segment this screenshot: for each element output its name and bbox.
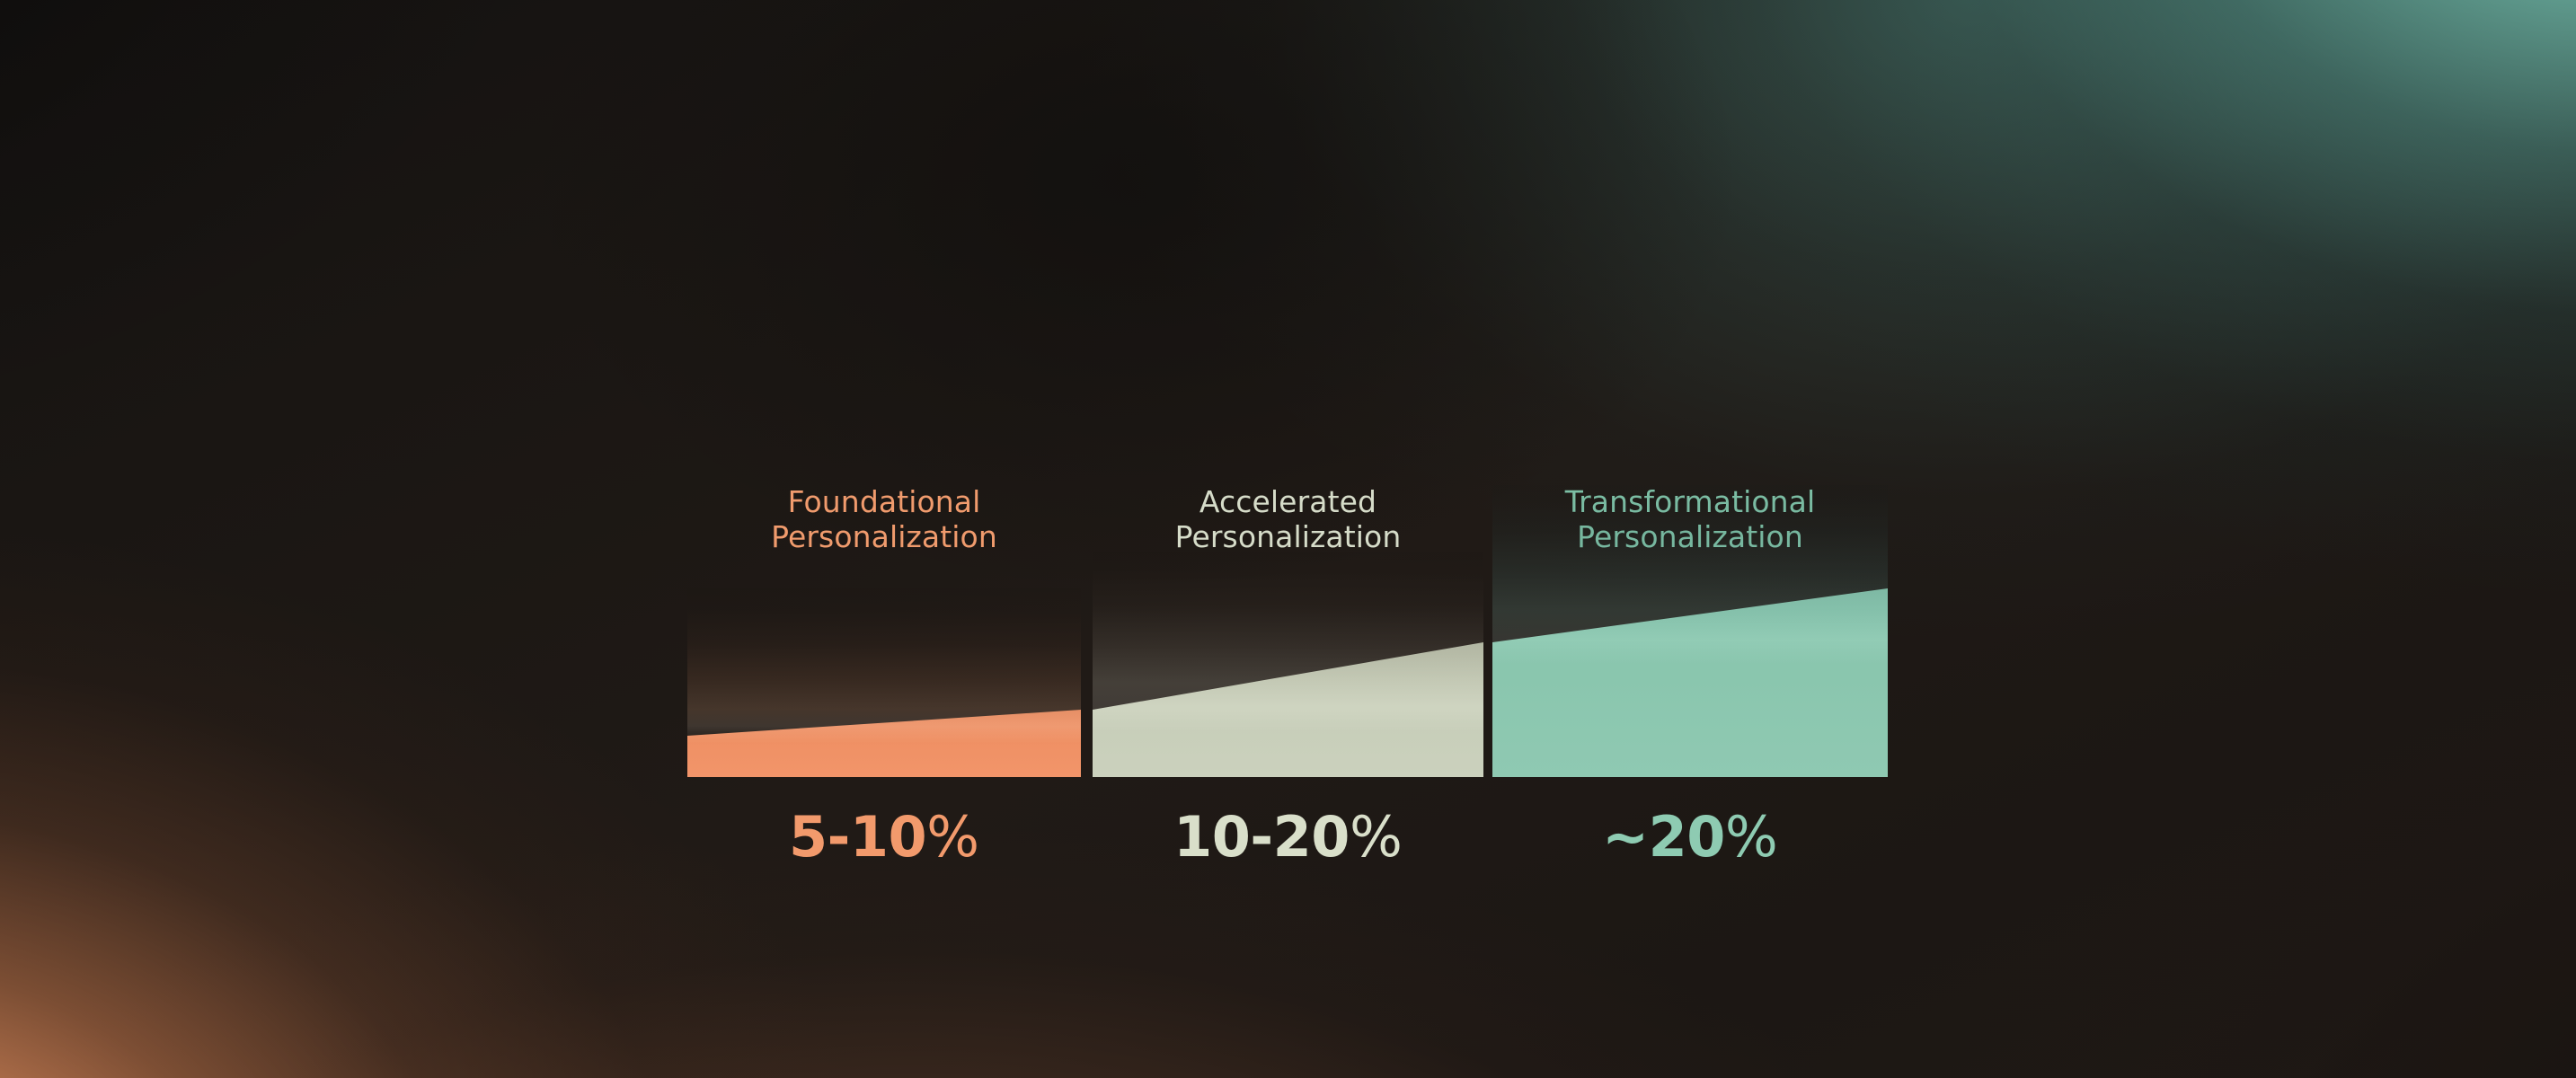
maturity-stage-chart: Foundational Personalization [687, 485, 1888, 907]
column-value-percent-symbol: % [1725, 804, 1778, 870]
column-label-foundational: Foundational Personalization [695, 485, 1073, 554]
bar-panel-foundational [687, 588, 1081, 777]
column-label-line2: Personalization [695, 520, 1073, 555]
column-value-transformational: ~20% [1602, 804, 1778, 870]
bar-wedge-transformational [1492, 485, 1888, 777]
bar-wedge-foundational [687, 588, 1081, 777]
column-label-line1: Accelerated [1100, 485, 1477, 520]
column-value-foundational: 5-10% [789, 804, 979, 870]
bar-panel-transformational [1492, 485, 1888, 777]
column-label-line2: Personalization [1100, 520, 1477, 555]
column-label-accelerated: Accelerated Personalization [1100, 485, 1477, 554]
column-value-percent-symbol: % [926, 804, 979, 870]
column-value-number: ~20 [1602, 804, 1725, 870]
bar-wedge-accelerated [1093, 552, 1483, 777]
column-value-accelerated: 10-20% [1173, 804, 1403, 870]
bar-panel-accelerated [1093, 552, 1483, 777]
column-value-percent-symbol: % [1350, 804, 1403, 870]
column-label-line1: Foundational [695, 485, 1073, 520]
chart-column-foundational[interactable]: Foundational Personalization [687, 485, 1081, 907]
chart-column-transformational[interactable]: Transformational Personalization [1492, 485, 1888, 907]
slide-canvas: Foundational Personalization [0, 0, 2576, 1078]
chart-column-accelerated[interactable]: Accelerated Personalization [1093, 485, 1483, 907]
column-value-number: 5-10 [789, 804, 926, 870]
column-value-number: 10-20 [1173, 804, 1350, 870]
